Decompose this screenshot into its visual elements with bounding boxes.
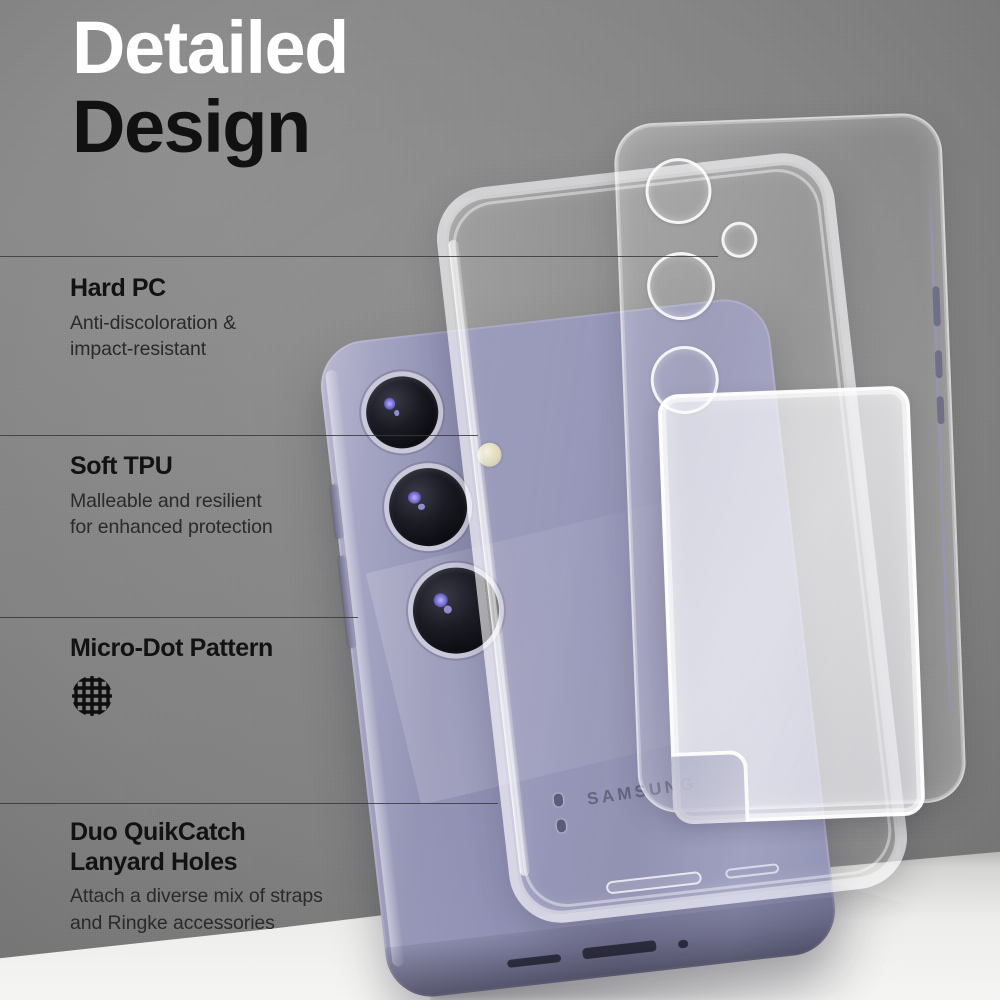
feature-desc-line-2: and Ringke accessories [70, 910, 323, 937]
feature-soft-tpu: Soft TPU Malleable and resilient for enh… [70, 452, 273, 541]
feature-desc-line-1: Attach a diverse mix of straps [70, 883, 323, 910]
feature-title: Micro-Dot Pattern [70, 634, 273, 664]
feature-title-line-1: Duo QuikCatch [70, 818, 323, 848]
speaker-grille [507, 954, 562, 968]
product-image-stage: SAMSUNG Detailed Design [0, 0, 1000, 1000]
feature-title: Hard PC [70, 274, 236, 304]
divider-micro-dot [0, 617, 358, 618]
case-button-cover-1 [932, 286, 941, 326]
feature-desc-line-1: Malleable and resilient [70, 488, 273, 515]
card-slot-thumb-notch [671, 750, 750, 825]
divider-hard-pc [0, 256, 718, 257]
feature-hard-pc: Hard PC Anti-discoloration & impact-resi… [70, 274, 236, 363]
flash-cutout [721, 221, 758, 258]
feature-title-line-2: Lanyard Holes [70, 848, 323, 878]
feature-desc-line-2: for enhanced protection [70, 514, 273, 541]
feature-duo-quikcatch-lanyard-holes: Duo QuikCatch Lanyard Holes Attach a div… [70, 818, 323, 937]
divider-lanyard-holes [0, 803, 498, 804]
camera-cutout-1 [644, 157, 712, 225]
case-button-cover-3 [937, 396, 945, 424]
lanyard-hole-1 [553, 793, 563, 807]
clear-case-back-panel [613, 112, 967, 814]
micro-dot-mesh-icon [70, 674, 114, 718]
camera-cutout-2 [646, 251, 717, 322]
usb-c-port [582, 940, 657, 959]
feature-title: Soft TPU [70, 452, 273, 482]
lanyard-hole-2 [556, 819, 566, 833]
microphone-hole [678, 939, 689, 948]
title-line-1: Detailed [72, 12, 348, 85]
page-title: Detailed Design [72, 12, 348, 163]
feature-desc-line-1: Anti-discoloration & [70, 310, 236, 337]
feature-micro-dot-pattern: Micro-Dot Pattern [70, 634, 273, 718]
title-line-2: Design [72, 91, 348, 164]
feature-desc-line-2: impact-resistant [70, 336, 236, 363]
card-holder-slot [657, 385, 925, 824]
divider-soft-tpu [0, 435, 478, 436]
case-button-cover-2 [935, 350, 943, 378]
